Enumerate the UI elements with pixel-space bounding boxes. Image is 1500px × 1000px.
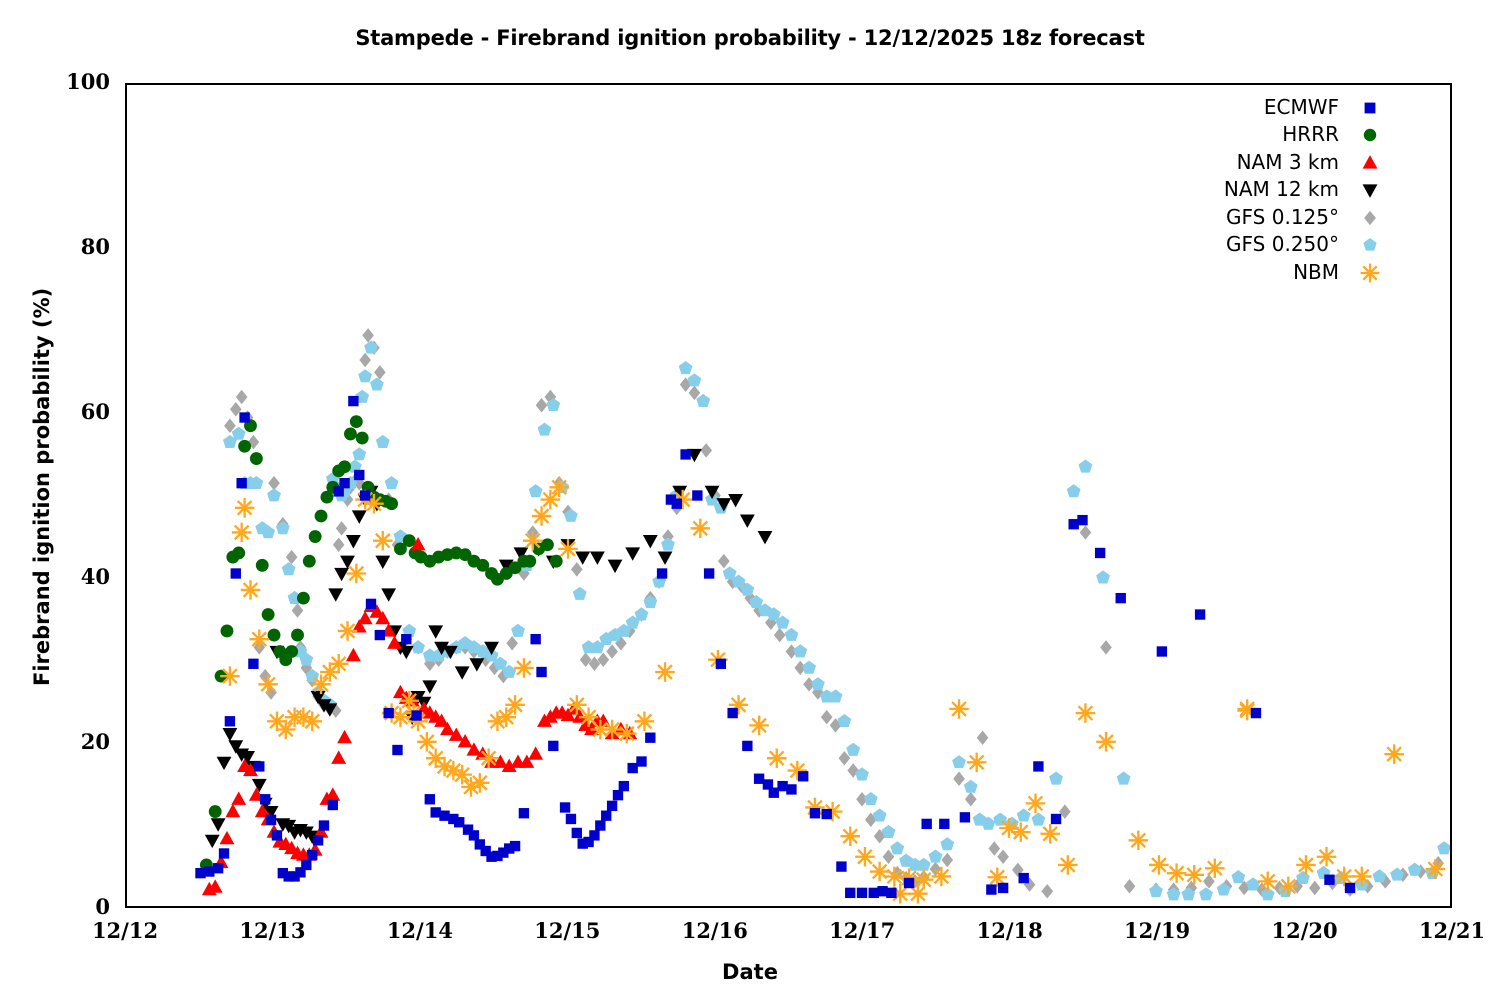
y-tick-label: 0 xyxy=(30,894,110,919)
chart-title: Stampede - Firebrand ignition probabilit… xyxy=(0,26,1500,50)
data-point xyxy=(213,863,223,873)
data-point xyxy=(344,428,357,441)
data-point xyxy=(286,550,298,565)
data-point xyxy=(877,886,887,896)
data-point xyxy=(1345,883,1355,893)
legend-marker-asterisk-icon xyxy=(1349,261,1395,283)
data-point xyxy=(1049,772,1063,785)
data-point xyxy=(1205,858,1225,878)
chart-legend: ECMWFHRRRNAM 3 kmNAM 12 kmGFS 0.125°GFS … xyxy=(1180,93,1395,286)
data-point xyxy=(643,535,658,548)
data-point xyxy=(236,478,246,488)
data-point xyxy=(506,636,518,651)
data-point xyxy=(1309,881,1321,896)
data-point xyxy=(225,804,240,817)
data-point xyxy=(572,828,582,838)
data-point xyxy=(921,819,931,829)
data-point xyxy=(777,781,787,791)
data-point xyxy=(886,888,896,898)
data-point xyxy=(1026,794,1046,814)
data-point xyxy=(337,730,352,743)
data-point xyxy=(769,788,779,798)
data-point xyxy=(625,547,640,560)
data-point xyxy=(309,530,322,543)
data-point xyxy=(220,666,240,686)
data-point xyxy=(607,801,617,811)
data-point xyxy=(997,849,1009,864)
data-point xyxy=(452,765,472,785)
data-point xyxy=(560,802,570,812)
data-point xyxy=(431,807,441,817)
data-point xyxy=(932,867,952,887)
data-point xyxy=(417,732,437,752)
data-point xyxy=(262,608,275,621)
y-tick-label: 20 xyxy=(30,729,110,754)
legend-label: NAM 12 km xyxy=(1224,177,1349,201)
data-point xyxy=(1426,859,1446,879)
data-point xyxy=(217,757,232,770)
data-point xyxy=(252,779,267,792)
legend-label: ECMWF xyxy=(1264,95,1349,119)
data-point xyxy=(523,531,543,551)
data-point xyxy=(532,506,552,526)
data-point xyxy=(1100,640,1112,655)
data-point xyxy=(454,817,464,827)
data-point xyxy=(1019,873,1029,883)
data-point xyxy=(331,750,346,763)
data-point xyxy=(965,792,977,807)
data-point xyxy=(385,497,398,510)
data-point xyxy=(313,835,323,845)
data-point xyxy=(205,835,220,848)
data-point xyxy=(220,831,235,844)
data-point xyxy=(221,625,234,638)
data-point xyxy=(575,551,590,564)
data-point xyxy=(260,794,270,804)
data-point xyxy=(754,774,764,784)
data-point xyxy=(496,707,516,727)
data-point xyxy=(1149,884,1163,897)
data-point xyxy=(550,555,563,568)
data-point xyxy=(254,761,264,771)
data-point xyxy=(742,741,752,751)
data-point xyxy=(383,708,393,718)
data-point xyxy=(977,730,989,745)
data-point xyxy=(411,710,421,720)
data-point xyxy=(303,555,316,568)
data-point xyxy=(222,728,237,741)
data-point xyxy=(510,841,520,851)
data-point xyxy=(595,820,605,830)
legend-marker-pentagon-icon xyxy=(1349,233,1395,255)
data-point xyxy=(619,781,629,791)
data-point xyxy=(1203,874,1215,889)
data-point xyxy=(573,587,587,600)
data-point xyxy=(250,629,270,649)
x-tick-label: 12/18 xyxy=(950,918,1070,943)
data-point xyxy=(248,659,258,669)
data-point xyxy=(541,538,554,551)
data-point xyxy=(352,447,366,460)
data-point xyxy=(857,888,867,898)
data-point xyxy=(549,478,569,498)
data-point xyxy=(571,562,583,577)
data-point xyxy=(1031,813,1045,826)
data-point xyxy=(319,820,329,830)
data-point xyxy=(613,790,623,800)
data-point xyxy=(718,554,730,569)
data-point xyxy=(998,883,1008,893)
data-point xyxy=(566,814,576,824)
legend-item-gfs-0-250[interactable]: GFS 0.250° xyxy=(1180,231,1395,259)
data-point xyxy=(401,634,411,644)
data-point xyxy=(511,624,525,637)
data-point xyxy=(1096,570,1110,583)
data-point xyxy=(381,588,396,601)
data-point xyxy=(696,394,710,407)
data-point xyxy=(869,888,879,898)
data-point xyxy=(967,753,987,773)
data-point xyxy=(940,837,954,850)
legend-marker-triangle-up-icon xyxy=(1349,151,1395,173)
data-point xyxy=(276,720,296,740)
data-point xyxy=(256,559,269,572)
data-point xyxy=(953,771,965,786)
data-point xyxy=(811,677,825,690)
data-point xyxy=(829,689,843,702)
data-point xyxy=(241,580,261,600)
legend-marker-diamond-icon xyxy=(1349,206,1395,228)
data-point xyxy=(268,629,281,642)
x-tick-label: 12/13 xyxy=(212,918,332,943)
data-point xyxy=(1051,814,1061,824)
data-point xyxy=(209,805,222,818)
data-point xyxy=(339,478,349,488)
legend-label: HRRR xyxy=(1282,122,1349,146)
data-point xyxy=(785,628,799,641)
data-point xyxy=(302,712,322,732)
data-point xyxy=(939,819,949,829)
legend-item-nam-3-km[interactable]: NAM 3 km xyxy=(1180,148,1395,176)
data-point xyxy=(1279,877,1299,897)
data-point xyxy=(225,716,235,726)
data-point xyxy=(333,538,345,553)
data-point xyxy=(291,629,304,642)
data-point xyxy=(1080,525,1092,540)
data-point xyxy=(837,714,851,727)
data-point xyxy=(231,791,246,804)
data-point xyxy=(455,666,470,679)
data-point xyxy=(1167,863,1187,883)
data-point xyxy=(870,862,890,882)
data-point xyxy=(1011,822,1031,842)
data-point xyxy=(679,361,693,374)
data-point xyxy=(657,568,667,578)
x-tick-label: 12/12 xyxy=(65,918,185,943)
data-point xyxy=(329,654,349,674)
data-point xyxy=(1231,870,1245,883)
legend-label: GFS 0.250° xyxy=(1226,232,1349,256)
data-point xyxy=(1317,847,1337,867)
data-point xyxy=(882,825,896,838)
data-point xyxy=(250,452,263,465)
legend-marker-triangle-down-icon xyxy=(1349,178,1395,200)
data-point xyxy=(204,866,214,876)
data-point xyxy=(362,328,374,343)
data-point xyxy=(519,808,529,818)
data-point xyxy=(1184,865,1204,885)
data-point xyxy=(536,398,548,413)
data-point xyxy=(1077,515,1087,525)
data-point xyxy=(272,830,282,840)
legend-label: GFS 0.125° xyxy=(1226,205,1349,229)
data-point xyxy=(1067,484,1081,497)
data-point xyxy=(373,531,393,551)
data-point xyxy=(658,551,673,564)
data-point xyxy=(1384,744,1404,764)
data-point xyxy=(700,443,712,458)
data-point xyxy=(235,498,255,518)
x-tick-label: 12/15 xyxy=(507,918,627,943)
data-point xyxy=(964,780,978,793)
data-point xyxy=(558,539,578,559)
data-point xyxy=(236,390,248,405)
chart-page: Stampede - Firebrand ignition probabilit… xyxy=(0,0,1500,1000)
data-point xyxy=(1373,869,1387,882)
data-point xyxy=(358,369,372,382)
data-point xyxy=(528,746,543,759)
data-point xyxy=(1296,871,1310,884)
data-point xyxy=(864,792,878,805)
data-point xyxy=(661,538,675,551)
data-point xyxy=(1095,548,1105,558)
data-point xyxy=(941,853,953,868)
data-point xyxy=(1157,646,1167,656)
data-point xyxy=(356,432,369,445)
data-point xyxy=(1149,855,1169,875)
x-tick-label: 12/21 xyxy=(1392,918,1500,943)
data-point xyxy=(231,568,241,578)
y-tick-label: 100 xyxy=(30,69,110,94)
data-point xyxy=(328,588,343,601)
data-point xyxy=(315,510,328,523)
x-tick-label: 12/16 xyxy=(655,918,775,943)
legend-item-hrrr[interactable]: HRRR xyxy=(1180,121,1395,149)
x-axis-label: Date xyxy=(0,960,1500,984)
data-point xyxy=(821,710,833,725)
data-point xyxy=(328,800,338,810)
data-point xyxy=(716,659,726,669)
data-point xyxy=(840,826,860,846)
data-point xyxy=(232,547,245,560)
data-point xyxy=(1129,831,1149,851)
data-point xyxy=(635,607,649,620)
data-point xyxy=(1068,519,1078,529)
data-point xyxy=(348,396,358,406)
legend-item-nbm[interactable]: NBM xyxy=(1180,258,1395,286)
data-point xyxy=(589,830,599,840)
data-point xyxy=(266,815,276,825)
data-point xyxy=(479,748,499,768)
y-tick-label: 40 xyxy=(30,564,110,589)
data-point xyxy=(232,523,252,543)
data-point xyxy=(366,599,376,609)
legend-marker-circle-icon xyxy=(1349,123,1395,145)
data-point xyxy=(530,634,540,644)
data-point xyxy=(239,412,249,422)
data-point xyxy=(292,603,304,618)
y-tick-label: 60 xyxy=(30,399,110,424)
data-point xyxy=(364,340,378,353)
data-point xyxy=(767,748,787,768)
data-point xyxy=(636,756,646,766)
data-point xyxy=(439,811,449,821)
data-point xyxy=(352,510,367,523)
data-point xyxy=(360,490,370,500)
data-point xyxy=(1058,855,1078,875)
data-point xyxy=(740,515,755,528)
data-point xyxy=(1041,884,1053,899)
data-point xyxy=(855,847,875,867)
data-point xyxy=(238,440,251,453)
legend-item-nam-12-km[interactable]: NAM 12 km xyxy=(1180,176,1395,204)
data-point xyxy=(680,449,690,459)
data-point xyxy=(301,860,311,870)
data-point xyxy=(672,499,682,509)
data-point xyxy=(385,476,399,489)
data-point xyxy=(601,811,611,821)
data-point xyxy=(986,884,996,894)
data-point xyxy=(728,494,743,507)
data-point xyxy=(536,667,546,677)
data-point xyxy=(346,648,361,661)
data-point xyxy=(885,867,905,887)
data-point xyxy=(354,470,364,480)
data-point xyxy=(929,849,943,862)
data-point xyxy=(297,592,310,605)
data-point xyxy=(688,373,702,386)
data-point xyxy=(602,720,622,740)
data-point xyxy=(1437,841,1450,854)
data-point xyxy=(347,564,367,584)
data-point xyxy=(1324,875,1334,885)
data-point xyxy=(548,741,558,751)
data-point xyxy=(529,484,543,497)
data-point xyxy=(822,809,832,819)
data-point xyxy=(774,628,786,643)
data-point xyxy=(505,695,525,715)
data-point xyxy=(836,861,846,871)
data-point xyxy=(692,490,702,500)
data-point xyxy=(960,812,970,822)
data-point xyxy=(541,490,561,510)
data-point xyxy=(1258,872,1278,892)
legend-label: NBM xyxy=(1293,260,1349,284)
data-point xyxy=(1096,732,1116,752)
data-point xyxy=(1296,855,1316,875)
data-point xyxy=(846,743,860,756)
data-point xyxy=(338,621,358,641)
data-point xyxy=(514,658,534,678)
legend-item-ecmwf[interactable]: ECMWF xyxy=(1180,93,1395,121)
data-point xyxy=(691,519,711,539)
data-point xyxy=(917,858,931,871)
data-point xyxy=(802,661,816,674)
data-point xyxy=(1195,609,1205,619)
data-point xyxy=(1246,877,1260,890)
data-point xyxy=(370,377,384,390)
series-ecmwf xyxy=(195,396,1355,898)
data-point xyxy=(523,555,536,568)
data-point xyxy=(425,794,435,804)
data-point xyxy=(211,818,226,831)
data-point xyxy=(798,771,808,781)
data-point xyxy=(890,841,904,854)
data-point xyxy=(786,784,796,794)
data-point xyxy=(232,427,246,440)
data-point xyxy=(606,644,618,659)
data-point xyxy=(469,658,484,671)
data-point xyxy=(219,848,229,858)
data-point xyxy=(1040,824,1060,844)
data-point xyxy=(1079,460,1093,473)
y-axis-label: Firebrand ignition probability (%) xyxy=(30,287,54,685)
data-point xyxy=(350,415,363,428)
data-point xyxy=(375,556,390,569)
data-point xyxy=(267,488,281,501)
data-point xyxy=(810,808,820,818)
data-point xyxy=(873,808,887,821)
data-point xyxy=(1033,761,1043,771)
data-point xyxy=(727,708,737,718)
data-point xyxy=(359,353,371,368)
data-point xyxy=(374,365,386,380)
data-point xyxy=(392,745,402,755)
data-point xyxy=(195,868,205,878)
data-point xyxy=(311,675,331,695)
data-point xyxy=(376,435,390,448)
data-point xyxy=(258,675,278,695)
data-point xyxy=(1116,593,1126,603)
data-point xyxy=(655,662,675,682)
data-point xyxy=(904,878,914,888)
data-point xyxy=(469,830,479,840)
data-point xyxy=(338,460,351,473)
data-point xyxy=(470,773,490,793)
data-point xyxy=(1117,772,1131,785)
data-point xyxy=(988,841,1000,856)
y-tick-label: 80 xyxy=(30,234,110,259)
data-point xyxy=(282,562,296,575)
data-point xyxy=(1199,887,1213,900)
data-point xyxy=(1408,863,1422,876)
legend-item-gfs-0-125[interactable]: GFS 0.125° xyxy=(1180,203,1395,231)
x-tick-label: 12/19 xyxy=(1097,918,1217,943)
data-point xyxy=(340,556,355,569)
data-point xyxy=(627,763,637,773)
legend-marker-square-icon xyxy=(1349,96,1395,118)
data-point xyxy=(617,724,637,744)
data-point xyxy=(1017,808,1031,821)
x-tick-label: 12/17 xyxy=(802,918,922,943)
data-point xyxy=(538,423,552,436)
data-point xyxy=(949,699,969,719)
data-point xyxy=(336,521,348,536)
data-point xyxy=(749,716,769,736)
data-point xyxy=(758,531,773,544)
x-tick-label: 12/20 xyxy=(1245,918,1365,943)
x-tick-label: 12/14 xyxy=(360,918,480,943)
